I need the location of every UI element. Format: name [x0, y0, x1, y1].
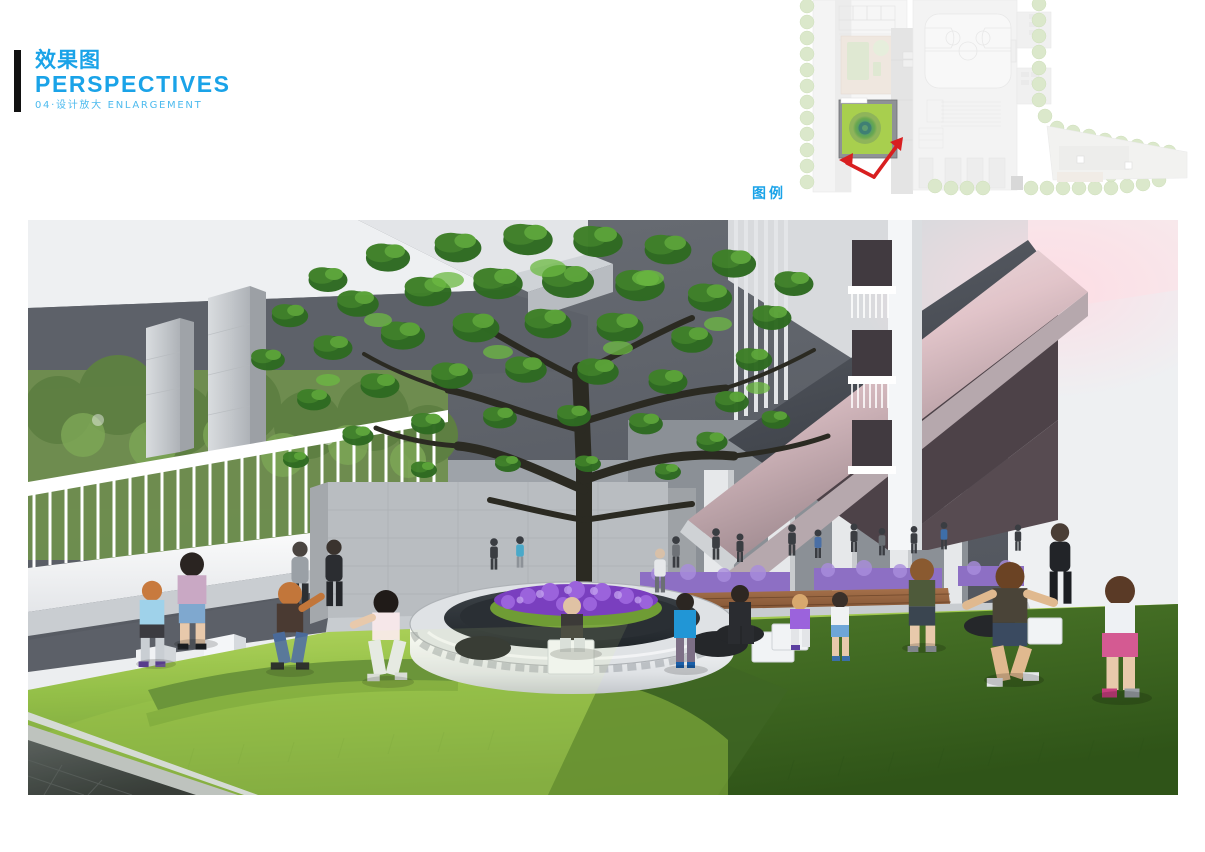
key-plan-drawing — [795, 0, 1205, 200]
highlighted-courtyard — [839, 98, 897, 158]
legend-label: 图例 — [752, 183, 786, 203]
title-accent-bar — [14, 50, 21, 112]
title-text-group: 效果图 PERSPECTIVES 04·设计放大 ENLARGEMENT — [35, 50, 231, 111]
basketball-court — [925, 14, 1016, 88]
key-plan — [795, 0, 1205, 200]
perspective-render — [28, 220, 1178, 795]
page-subtitle: 04·设计放大 ENLARGEMENT — [35, 101, 231, 111]
page-title-chinese: 效果图 — [35, 50, 231, 71]
render-artwork — [28, 220, 1178, 795]
courtyard-feature-tree — [849, 112, 881, 144]
presentation-board: 效果图 PERSPECTIVES 04·设计放大 ENLARGEMENT — [0, 0, 1205, 852]
title-block: 效果图 PERSPECTIVES 04·设计放大 ENLARGEMENT — [14, 50, 231, 112]
page-title-english: PERSPECTIVES — [35, 73, 231, 96]
